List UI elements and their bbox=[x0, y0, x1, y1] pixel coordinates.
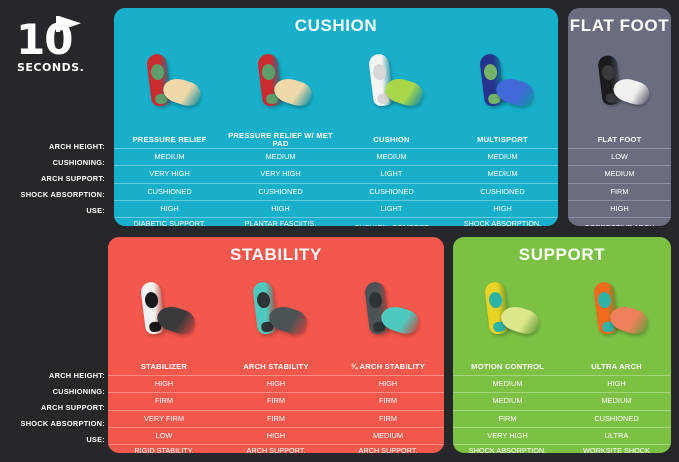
spec-header-row: FLAT FOOT bbox=[568, 132, 671, 148]
row-label-arch-support: ARCH SUPPORT: bbox=[0, 399, 111, 415]
insole-product-image bbox=[135, 52, 205, 112]
product-image-cell bbox=[562, 263, 671, 357]
spec-value-shock-absorption: VERY HIGH bbox=[453, 428, 562, 444]
spec-row-use: CORRECTIVE ARCH bbox=[568, 218, 671, 226]
spec-value-use: SHOCK ABSORPTION, STABILITY, COMFORT bbox=[447, 218, 558, 226]
spec-value-arch-height: MEDIUM bbox=[336, 149, 447, 165]
spec-row-arch-height: MEDIUMHIGH bbox=[453, 376, 671, 392]
spec-value-use: WORKSITE SHOCK ABSORPTION bbox=[562, 445, 671, 453]
row-label-use: USE: bbox=[0, 203, 111, 219]
insole-product-image bbox=[246, 52, 316, 112]
spec-value-shock-absorption: MEDIUM bbox=[332, 428, 444, 444]
product-image-cell bbox=[568, 34, 671, 130]
spec-row-cushioning: MEDIUMMEDIUM bbox=[453, 393, 671, 409]
panel-flat-foot: FLAT FOOT FLAT FOOTLOWMEDIUMFIRMHIGHCORR… bbox=[568, 8, 671, 226]
spec-row-shock-absorption: HIGHHIGHLIGHTHIGH bbox=[114, 201, 558, 217]
product-name-header: MULTISPORT bbox=[447, 132, 558, 148]
spec-table-stability: STABILIZERARCH STABILITY¾ ARCH STABILITY… bbox=[108, 359, 444, 453]
spec-row-arch-height: HIGHHIGHHIGH bbox=[108, 376, 444, 392]
spec-value-shock-absorption: HIGH bbox=[220, 428, 332, 444]
insole-accent bbox=[368, 291, 383, 308]
spec-value-shock-absorption: HIGH bbox=[114, 201, 225, 217]
spec-value-use: RIGID STABILITY, ARCH SUPPORT bbox=[108, 445, 220, 453]
insole-accent bbox=[597, 291, 612, 308]
spec-table-flat-foot: FLAT FOOTLOWMEDIUMFIRMHIGHCORRECTIVE ARC… bbox=[568, 132, 671, 226]
insole-accent bbox=[483, 63, 498, 80]
spec-value-arch-height: HIGH bbox=[108, 376, 220, 392]
spec-row-cushioning: MEDIUM bbox=[568, 166, 671, 182]
spec-row-use: DIABETIC SUPPORT, CUSTOM COMFORTPLANTAR … bbox=[114, 218, 558, 226]
spec-value-use: SHOCK ABSORPTION, COMFORT, STABILITY bbox=[453, 445, 562, 453]
spec-row-arch-support: CUSHIONEDCUSHIONEDCUSHIONEDCUSHIONED bbox=[114, 184, 558, 200]
spec-value-shock-absorption: LIGHT bbox=[336, 201, 447, 217]
insole-accent bbox=[601, 64, 615, 81]
spec-row-shock-absorption: LOWHIGHMEDIUM bbox=[108, 428, 444, 444]
insole-accent bbox=[488, 291, 503, 308]
spec-row-arch-support: FIRM bbox=[568, 184, 671, 200]
product-images-stability bbox=[108, 263, 444, 357]
insole-accent bbox=[144, 291, 159, 308]
product-image-cell bbox=[114, 34, 225, 130]
row-labels-bottom: ARCH HEIGHT:CUSHIONING:ARCH SUPPORT:SHOC… bbox=[0, 367, 111, 448]
product-name-header: STABILIZER bbox=[108, 359, 220, 375]
spec-row-shock-absorption: VERY HIGHULTRA bbox=[453, 428, 671, 444]
spec-value-shock-absorption: HIGH bbox=[225, 201, 336, 217]
spec-row-arch-height: LOW bbox=[568, 149, 671, 165]
row-labels-top: ARCH HEIGHT:CUSHIONING:ARCH SUPPORT:SHOC… bbox=[0, 138, 111, 219]
product-images-flat-foot bbox=[568, 34, 671, 130]
spec-row-use: RIGID STABILITY, ARCH SUPPORTARCH SUPPOR… bbox=[108, 445, 444, 453]
spec-value-cushioning: MEDIUM bbox=[453, 393, 562, 409]
panel-title-cushion: CUSHION bbox=[114, 16, 558, 36]
row-label-arch-height: ARCH HEIGHT: bbox=[0, 138, 111, 154]
spec-value-arch-support: CUSHIONED bbox=[114, 184, 225, 200]
spec-value-cushioning: VERY HIGH bbox=[114, 166, 225, 182]
spec-value-arch-support: FIRM bbox=[568, 184, 671, 200]
spec-value-cushioning: VERY HIGH bbox=[225, 166, 336, 182]
spec-value-use: CORRECTIVE ARCH bbox=[568, 218, 671, 226]
spec-row-cushioning: VERY HIGHVERY HIGHLIGHTMEDIUM bbox=[114, 166, 558, 182]
spec-value-use: DIABETIC SUPPORT, CUSTOM COMFORT bbox=[114, 218, 225, 226]
spec-value-arch-height: HIGH bbox=[220, 376, 332, 392]
product-image-cell bbox=[220, 263, 332, 357]
insole-accent bbox=[256, 291, 271, 308]
spec-row-use: SHOCK ABSORPTION, COMFORT, STABILITYWORK… bbox=[453, 445, 671, 453]
product-name-header: FLAT FOOT bbox=[568, 132, 671, 148]
spec-value-cushioning: FIRM bbox=[332, 393, 444, 409]
spec-value-use: ARCH SUPPORT, SHOCK ABSORPTION bbox=[220, 445, 332, 453]
product-name-header: ¾ ARCH STABILITY bbox=[332, 359, 444, 375]
spec-value-use: ARCH SUPPORT, SHOCK ABSORPTION bbox=[332, 445, 444, 453]
insole-product-image bbox=[353, 280, 423, 340]
spec-value-cushioning: MEDIUM bbox=[447, 166, 558, 182]
row-label-shock-absorption: SHOCK ABSORPTION: bbox=[0, 187, 111, 203]
row-label-use: USE: bbox=[0, 432, 111, 448]
spec-header-row: PRESSURE RELIEFPRESSURE RELIEF W/ MET PA… bbox=[114, 132, 558, 148]
panel-cushion: CUSHION PRESSURE RELIEFPRESSURE RELIEF W… bbox=[114, 8, 558, 226]
panel-title-stability: STABILITY bbox=[108, 245, 444, 265]
panel-title-support: SUPPORT bbox=[453, 245, 671, 265]
product-name-header: ULTRA ARCH bbox=[562, 359, 671, 375]
product-name-header: PRESSURE RELIEF bbox=[114, 132, 225, 148]
insole-accent bbox=[150, 63, 165, 80]
product-name-header: MOTION CONTROL bbox=[453, 359, 562, 375]
product-name-header: CUSHION bbox=[336, 132, 447, 148]
product-image-cell bbox=[225, 34, 336, 130]
spec-header-row: STABILIZERARCH STABILITY¾ ARCH STABILITY bbox=[108, 359, 444, 375]
product-images-support bbox=[453, 263, 671, 357]
product-name-header: PRESSURE RELIEF W/ MET PAD bbox=[225, 132, 336, 148]
insole-product-image bbox=[586, 54, 653, 111]
spec-value-arch-support: CUSHIONED bbox=[562, 411, 671, 427]
spec-value-arch-support: FIRM bbox=[453, 411, 562, 427]
spec-value-arch-support: FIRM bbox=[220, 411, 332, 427]
panel-support: SUPPORT MOTION CONTROLULTRA ARCHMEDIUMHI… bbox=[453, 237, 671, 453]
spec-value-use: CUSHION, COMFORT bbox=[336, 218, 447, 226]
row-label-arch-height: ARCH HEIGHT: bbox=[0, 367, 111, 383]
spec-value-arch-height: LOW bbox=[568, 149, 671, 165]
row-label-cushioning: CUSHIONING: bbox=[0, 154, 111, 170]
product-image-cell bbox=[108, 263, 220, 357]
logo-mark: 10 bbox=[14, 16, 100, 64]
product-image-cell bbox=[447, 34, 558, 130]
spec-value-arch-support: CUSHIONED bbox=[447, 184, 558, 200]
spec-value-arch-support: CUSHIONED bbox=[225, 184, 336, 200]
spec-value-cushioning: MEDIUM bbox=[568, 166, 671, 182]
spec-value-arch-height: HIGH bbox=[562, 376, 671, 392]
spec-value-arch-support: VERY FIRM bbox=[108, 411, 220, 427]
spec-value-arch-height: MEDIUM bbox=[447, 149, 558, 165]
spec-value-arch-support: FIRM bbox=[332, 411, 444, 427]
insole-product-image bbox=[582, 280, 652, 340]
product-image-cell bbox=[453, 263, 562, 357]
spec-value-arch-height: MEDIUM bbox=[114, 149, 225, 165]
spec-value-arch-support: CUSHIONED bbox=[336, 184, 447, 200]
logo-wordmark: SECONDS. bbox=[17, 61, 84, 74]
spec-row-arch-support: VERY FIRMFIRMFIRM bbox=[108, 411, 444, 427]
spec-row-arch-support: FIRMCUSHIONED bbox=[453, 411, 671, 427]
insole-comparison-chart: 10 SECONDS. ARCH HEIGHT:CUSHIONING:ARCH … bbox=[0, 0, 679, 462]
spec-value-shock-absorption: HIGH bbox=[568, 201, 671, 217]
spec-value-cushioning: LIGHT bbox=[336, 166, 447, 182]
spec-value-shock-absorption: HIGH bbox=[447, 201, 558, 217]
brand-logo: 10 SECONDS. bbox=[14, 16, 100, 82]
insole-product-image bbox=[357, 52, 427, 112]
spec-table-cushion: PRESSURE RELIEFPRESSURE RELIEF W/ MET PA… bbox=[114, 132, 558, 226]
spec-value-arch-height: HIGH bbox=[332, 376, 444, 392]
product-images-cushion bbox=[114, 34, 558, 130]
spec-table-support: MOTION CONTROLULTRA ARCHMEDIUMHIGHMEDIUM… bbox=[453, 359, 671, 453]
insole-product-image bbox=[473, 280, 543, 340]
spec-value-shock-absorption: LOW bbox=[108, 428, 220, 444]
spec-value-arch-height: MEDIUM bbox=[453, 376, 562, 392]
spec-value-cushioning: FIRM bbox=[108, 393, 220, 409]
spec-value-shock-absorption: ULTRA bbox=[562, 428, 671, 444]
product-image-cell bbox=[332, 263, 444, 357]
spec-row-arch-height: MEDIUMMEDIUMMEDIUMMEDIUM bbox=[114, 149, 558, 165]
panel-title-flat-foot: FLAT FOOT bbox=[568, 16, 671, 36]
panel-stability: STABILITY STABILIZERARCH STABILITY¾ ARCH… bbox=[108, 237, 444, 453]
spec-row-cushioning: FIRMFIRMFIRM bbox=[108, 393, 444, 409]
product-name-header: ARCH STABILITY bbox=[220, 359, 332, 375]
spec-header-row: MOTION CONTROLULTRA ARCH bbox=[453, 359, 671, 375]
insole-product-image bbox=[468, 52, 538, 112]
spec-value-cushioning: FIRM bbox=[220, 393, 332, 409]
product-image-cell bbox=[336, 34, 447, 130]
insole-product-image bbox=[241, 280, 311, 340]
row-label-shock-absorption: SHOCK ABSORPTION: bbox=[0, 416, 111, 432]
spec-value-use: PLANTAR FASCIITIS, MORTON'S NEUROMA bbox=[225, 218, 336, 226]
spec-value-arch-height: MEDIUM bbox=[225, 149, 336, 165]
insole-accent bbox=[261, 63, 276, 80]
insole-product-image bbox=[129, 280, 199, 340]
spec-value-cushioning: MEDIUM bbox=[562, 393, 671, 409]
row-label-arch-support: ARCH SUPPORT: bbox=[0, 170, 111, 186]
spec-row-shock-absorption: HIGH bbox=[568, 201, 671, 217]
row-label-cushioning: CUSHIONING: bbox=[0, 383, 111, 399]
insole-accent bbox=[372, 63, 387, 80]
